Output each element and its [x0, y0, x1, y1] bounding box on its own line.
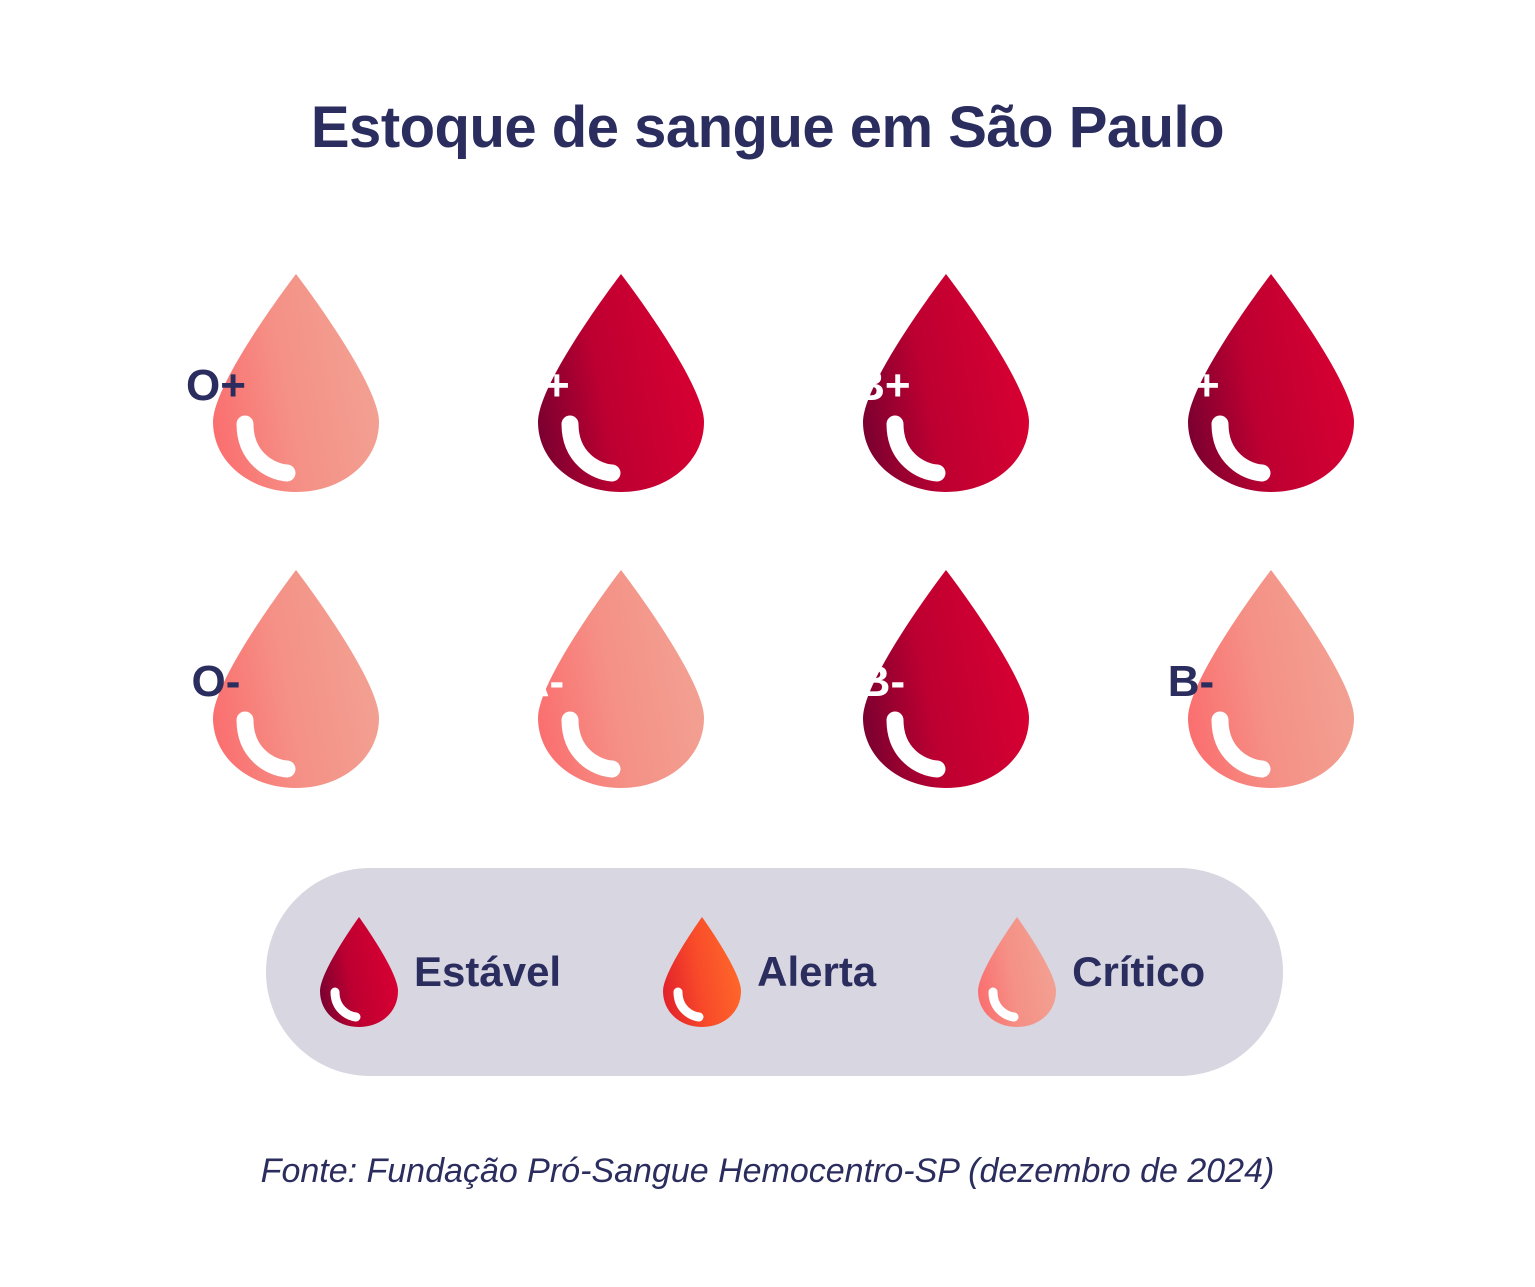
- legend-item-critico[interactable]: Crítico: [978, 916, 1205, 1028]
- blood-type-row: O+ A: [133, 272, 1433, 502]
- blood-drop-icon: [213, 272, 379, 494]
- infographic-canvas: Estoque de sangue em São Paulo: [0, 0, 1535, 1287]
- blood-drop-icon: [320, 916, 398, 1028]
- legend-label: Alerta: [757, 951, 876, 993]
- blood-drop-icon: [213, 568, 379, 790]
- legend: Estável Alerta: [266, 868, 1283, 1076]
- blood-type-row: O- A: [133, 568, 1433, 798]
- blood-type-cell-b-minus[interactable]: B-: [1108, 568, 1433, 798]
- legend-label: Crítico: [1072, 951, 1205, 993]
- legend-item-alerta[interactable]: Alerta: [663, 916, 876, 1028]
- blood-type-cell-ab-minus[interactable]: AB-: [783, 568, 1108, 798]
- blood-drop-icon: [538, 568, 704, 790]
- source-footnote: Fonte: Fundação Pró-Sangue Hemocentro-SP…: [0, 1152, 1535, 1191]
- blood-drop-icon: [1188, 568, 1354, 790]
- blood-type-cell-o-minus[interactable]: O-: [133, 568, 458, 798]
- blood-drop-icon: [663, 916, 741, 1028]
- blood-type-cell-b-plus[interactable]: B+: [1108, 272, 1433, 502]
- blood-type-cell-ab-plus[interactable]: AB+: [783, 272, 1108, 502]
- legend-label: Estável: [414, 951, 561, 993]
- blood-drop-icon: [978, 916, 1056, 1028]
- blood-drop-icon: [538, 272, 704, 494]
- blood-drop-icon: [863, 272, 1029, 494]
- legend-item-estavel[interactable]: Estável: [320, 916, 561, 1028]
- page-title: Estoque de sangue em São Paulo: [0, 96, 1535, 160]
- blood-type-cell-a-plus[interactable]: A+: [458, 272, 783, 502]
- blood-drop-icon: [1188, 272, 1354, 494]
- blood-type-cell-a-minus[interactable]: A-: [458, 568, 783, 798]
- blood-drop-icon: [863, 568, 1029, 790]
- blood-type-grid: O+ A: [133, 272, 1433, 798]
- blood-type-cell-o-plus[interactable]: O+: [133, 272, 458, 502]
